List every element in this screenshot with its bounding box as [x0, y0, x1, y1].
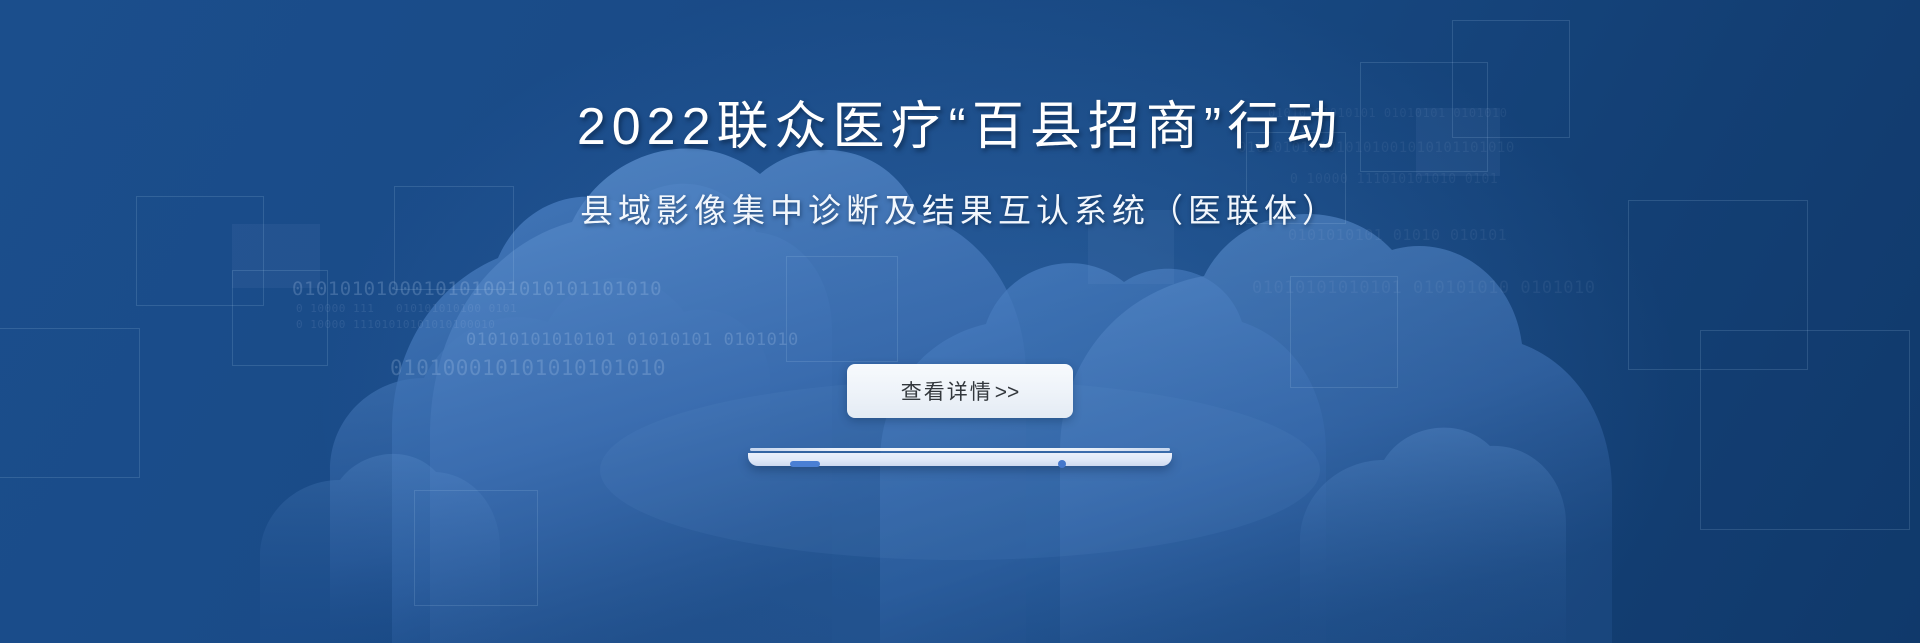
promo-banner: 0101010100010101001010101101010 0 10000 … — [0, 0, 1920, 643]
banner-text-block: 2022联众医疗“百县招商”行动 县域影像集中诊断及结果互认系统（医联体） — [0, 0, 1920, 232]
binary-deco-5: 01010101010101 01010101 0101010 — [466, 330, 799, 350]
binary-deco-3: 010101010100 0101 — [396, 302, 517, 315]
deco-rect-right-6 — [1700, 330, 1910, 530]
laptop-base-illustration — [748, 448, 1172, 472]
view-details-label: 查看详情 — [901, 381, 993, 404]
binary-deco-7: 01010101010101 010101010 0101010 — [1252, 278, 1596, 298]
laptop-camera-dot — [1058, 460, 1066, 468]
laptop-indicator-bar — [790, 461, 820, 467]
laptop-screen-edge — [750, 448, 1170, 451]
double-chevron-right-icon: >> — [995, 381, 1020, 404]
deco-rect-center-2 — [786, 256, 898, 362]
view-details-button[interactable]: 查看详情>> — [847, 364, 1073, 418]
binary-deco-2: 0 10000 111 — [296, 302, 374, 315]
cta-container: 查看详情>> — [0, 364, 1920, 418]
binary-deco-1: 0101010100010101001010101101010 — [292, 278, 662, 300]
laptop-body — [748, 453, 1172, 466]
banner-title: 2022联众医疗“百县招商”行动 — [0, 0, 1920, 158]
banner-subtitle: 县域影像集中诊断及结果互认系统（医联体） — [0, 158, 1920, 232]
deco-rect-left-4 — [414, 490, 538, 606]
